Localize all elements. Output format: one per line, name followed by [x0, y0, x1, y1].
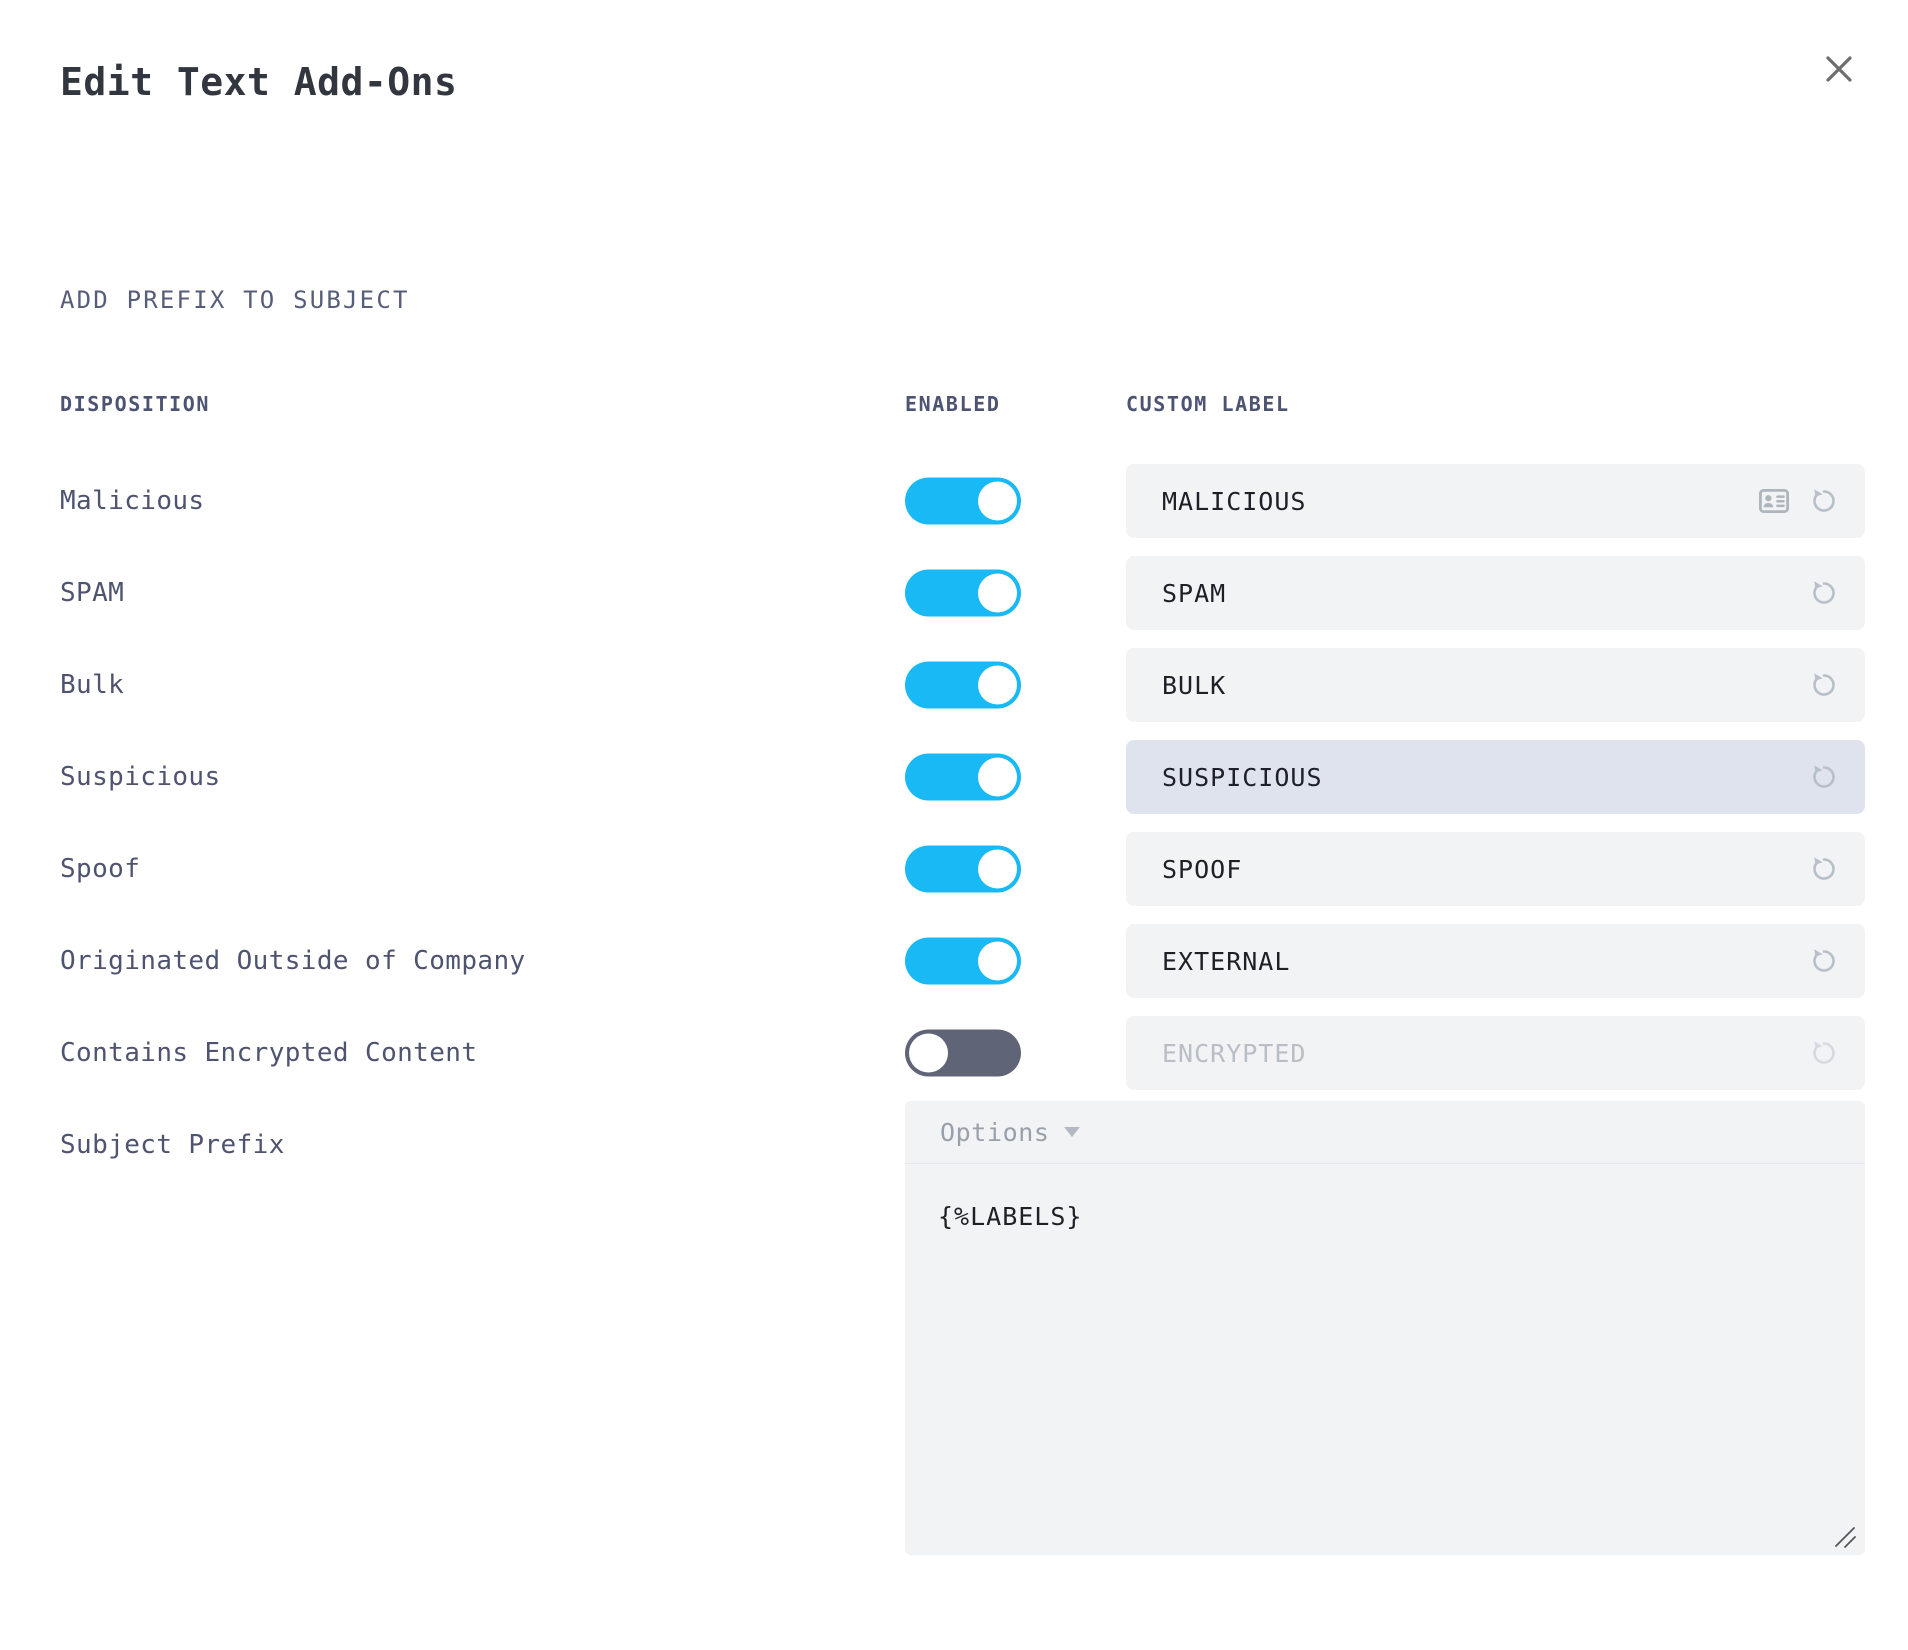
field-icon-group — [1807, 1036, 1841, 1070]
disposition-label: Malicious — [60, 486, 204, 516]
contact-card-icon[interactable] — [1757, 484, 1791, 518]
page-title: Edit Text Add-Ons — [60, 60, 457, 104]
disposition-label: Contains Encrypted Content — [60, 1038, 477, 1068]
toggle-knob — [978, 482, 1017, 521]
subject-prefix-textarea[interactable]: {%LABELS} — [905, 1164, 1865, 1555]
enabled-toggle[interactable] — [905, 662, 1021, 709]
custom-label-input[interactable]: SPOOF — [1126, 832, 1865, 906]
disposition-rows: MaliciousMALICIOUSSPAMSPAMBulkBULKSuspic… — [0, 455, 1908, 1099]
reset-icon[interactable] — [1807, 852, 1841, 886]
field-icon-group — [1807, 668, 1841, 702]
field-icon-group — [1807, 944, 1841, 978]
disposition-label: SPAM — [60, 578, 124, 608]
disposition-label: Bulk — [60, 670, 124, 700]
disposition-label: Spoof — [60, 854, 140, 884]
options-dropdown[interactable]: Options — [905, 1101, 1865, 1164]
column-header-disposition: DISPOSITION — [60, 392, 210, 416]
reset-icon[interactable] — [1807, 668, 1841, 702]
column-header-custom-label: CUSTOM LABEL — [1126, 392, 1290, 416]
section-label-add-prefix-to-subject: ADD PREFIX TO SUBJECT — [60, 286, 410, 314]
table-row: BulkBULK — [0, 639, 1908, 731]
field-icon-group — [1807, 576, 1841, 610]
subject-prefix-value: {%LABELS} — [938, 1202, 1865, 1231]
field-icon-group — [1807, 760, 1841, 794]
toggle-knob — [909, 1034, 948, 1073]
subject-prefix-label: Subject Prefix — [60, 1130, 285, 1160]
field-icon-group — [1757, 484, 1841, 518]
resize-grip-icon[interactable] — [1834, 1526, 1856, 1548]
custom-label-value: MALICIOUS — [1162, 487, 1757, 516]
enabled-toggle[interactable] — [905, 1030, 1021, 1077]
custom-label-value: EXTERNAL — [1162, 947, 1807, 976]
toggle-knob — [978, 758, 1017, 797]
reset-icon — [1807, 1036, 1841, 1070]
chevron-down-icon — [1064, 1127, 1080, 1137]
custom-label-input: ENCRYPTED — [1126, 1016, 1865, 1090]
table-row: MaliciousMALICIOUS — [0, 455, 1908, 547]
edit-text-addons-dialog: Edit Text Add-Ons ADD PREFIX TO SUBJECT … — [0, 0, 1908, 1650]
custom-label-input[interactable]: MALICIOUS — [1126, 464, 1865, 538]
disposition-label: Suspicious — [60, 762, 221, 792]
enabled-toggle[interactable] — [905, 846, 1021, 893]
field-icon-group — [1807, 852, 1841, 886]
table-row: Originated Outside of CompanyEXTERNAL — [0, 915, 1908, 1007]
enabled-toggle[interactable] — [905, 570, 1021, 617]
enabled-toggle[interactable] — [905, 754, 1021, 801]
toggle-knob — [978, 942, 1017, 981]
disposition-label: Originated Outside of Company — [60, 946, 526, 976]
custom-label-value: BULK — [1162, 671, 1807, 700]
custom-label-input[interactable]: EXTERNAL — [1126, 924, 1865, 998]
table-row: SuspiciousSUSPICIOUS — [0, 731, 1908, 823]
reset-icon[interactable] — [1807, 760, 1841, 794]
custom-label-value: ENCRYPTED — [1162, 1039, 1807, 1068]
column-headers: DISPOSITION ENABLED CUSTOM LABEL — [0, 392, 1908, 422]
reset-icon[interactable] — [1807, 484, 1841, 518]
reset-icon[interactable] — [1807, 944, 1841, 978]
options-dropdown-label: Options — [940, 1118, 1050, 1147]
custom-label-input[interactable]: SUSPICIOUS — [1126, 740, 1865, 814]
enabled-toggle[interactable] — [905, 478, 1021, 525]
custom-label-input[interactable]: BULK — [1126, 648, 1865, 722]
custom-label-input[interactable]: SPAM — [1126, 556, 1865, 630]
custom-label-value: SUSPICIOUS — [1162, 763, 1807, 792]
enabled-toggle[interactable] — [905, 938, 1021, 985]
close-icon[interactable] — [1810, 40, 1868, 98]
subject-prefix-editor: Options {%LABELS} — [905, 1101, 1865, 1555]
custom-label-value: SPOOF — [1162, 855, 1807, 884]
table-row: SPAMSPAM — [0, 547, 1908, 639]
toggle-knob — [978, 850, 1017, 889]
table-row: Contains Encrypted ContentENCRYPTED — [0, 1007, 1908, 1099]
toggle-knob — [978, 666, 1017, 705]
table-row: SpoofSPOOF — [0, 823, 1908, 915]
reset-icon[interactable] — [1807, 576, 1841, 610]
column-header-enabled: ENABLED — [905, 392, 1001, 416]
toggle-knob — [978, 574, 1017, 613]
custom-label-value: SPAM — [1162, 579, 1807, 608]
